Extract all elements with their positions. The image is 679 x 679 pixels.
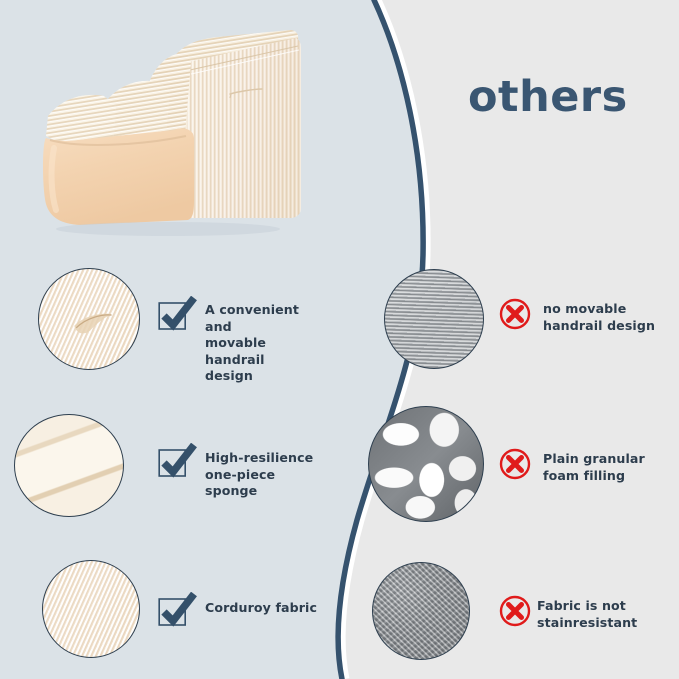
check-icon-sponge: [158, 443, 198, 481]
thumb-one-piece-foam-closeup: [14, 414, 124, 517]
feature-text-fabric: Corduroy fabric: [205, 600, 330, 617]
feature-text-stains: Fabric is not stainresistant: [537, 598, 667, 631]
product-hero-image: [18, 18, 318, 246]
comparison-infographic: others: [0, 0, 679, 679]
thumb-stained-gray-fabric-closeup: [372, 562, 470, 660]
check-icon-fabric: [158, 592, 198, 630]
check-icon-handrail: [158, 296, 198, 334]
others-heading: others: [468, 72, 628, 122]
thumb-shredded-foam-chunks-closeup: [368, 406, 484, 522]
thumb-corduroy-fabric-closeup: [42, 560, 140, 658]
thumb-gray-ribbed-fabric-closeup: [384, 269, 484, 369]
feature-text-handrail: A convenient and movable handrail design: [205, 302, 325, 385]
feature-text-granular-foam: Plain granular foam filling: [543, 451, 668, 484]
feature-text-sponge: High-resilience one-piece sponge: [205, 450, 330, 500]
feature-text-no-handrail: no movable handrail design: [543, 301, 668, 334]
cross-icon-stains: [499, 595, 531, 627]
cross-icon-granular-foam: [499, 448, 531, 480]
thumb-corduroy-handrail-closeup: [38, 268, 140, 370]
cross-icon-no-handrail: [499, 298, 531, 330]
